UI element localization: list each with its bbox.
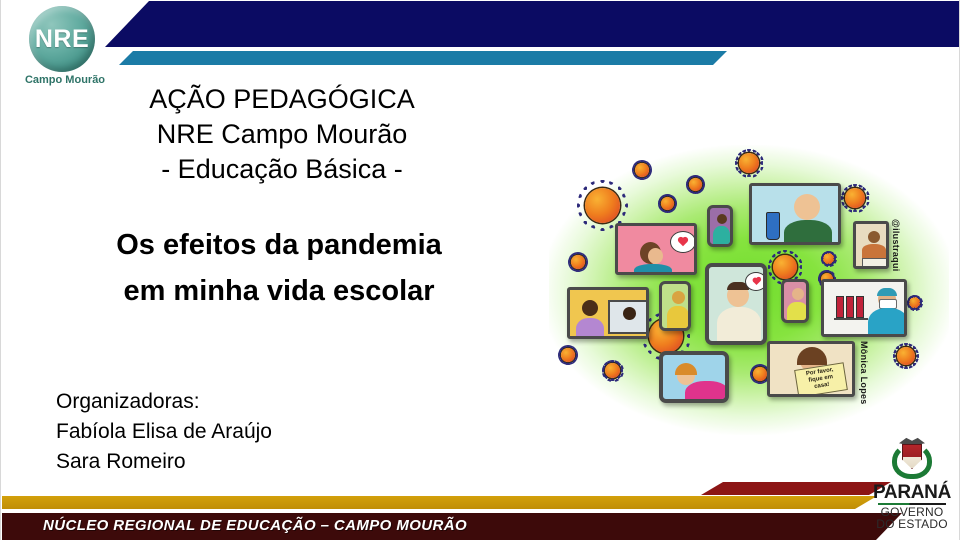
- hair-shape: [797, 347, 827, 365]
- title-line-1: AÇÃO PEDAGÓGICA: [37, 82, 527, 117]
- nre-logo: NRE Campo Mourão: [17, 6, 113, 90]
- virus-icon: [561, 348, 575, 362]
- subtitle-line-2: em minha vida escolar: [29, 268, 529, 314]
- heart-icon: [752, 278, 759, 285]
- parana-wordmark: PARANÁ: [867, 483, 957, 502]
- title-line-3: - Educação Básica -: [37, 152, 527, 187]
- virus-icon: [661, 197, 674, 210]
- test-tube: [846, 296, 854, 318]
- organizer-name-2: Sara Romeiro: [56, 447, 272, 477]
- subtitle-line-1: Os efeitos da pandemia: [29, 222, 529, 268]
- screen-stay-home: Por favor, fique em casa!: [767, 341, 855, 397]
- virus-icon: [823, 253, 834, 264]
- virus-icon: [571, 255, 585, 269]
- title-line-2: NRE Campo Mourão: [37, 117, 527, 152]
- book-icon: [862, 258, 888, 268]
- illustration-credit: Mônica Lopes: [859, 341, 869, 405]
- monitor-icon: [608, 300, 649, 334]
- screen-video-call: [567, 287, 649, 339]
- person-head: [623, 307, 636, 320]
- header-teal-stripe: [119, 51, 727, 65]
- header-navy-band: [105, 1, 960, 47]
- footer-dark-red-band: [701, 482, 891, 495]
- test-tube: [836, 296, 844, 318]
- screen-resting-girl: [659, 351, 729, 403]
- person-body: [576, 318, 604, 339]
- virus-icon: [585, 188, 620, 223]
- footer-gold-band: [2, 496, 877, 509]
- heart-icon: [679, 238, 687, 246]
- footer-label: NÚCLEO REGIONAL DE EDUCAÇÃO – CAMPO MOUR…: [43, 517, 467, 534]
- illustration-watermark: @ilustraqui: [891, 219, 901, 272]
- organizers-block: Organizadoras: Fabíola Elisa de Araújo S…: [56, 387, 272, 477]
- organizers-label: Organizadoras:: [56, 387, 272, 417]
- person-head: [717, 214, 727, 224]
- person-body: [787, 302, 808, 322]
- person-head: [582, 300, 598, 316]
- page-title: AÇÃO PEDAGÓGICA NRE Campo Mourão - Educa…: [37, 82, 527, 187]
- screen-center-man: [705, 263, 767, 345]
- cap-icon: [877, 288, 897, 296]
- presentation-slide: NRE Campo Mourão AÇÃO PEDAGÓGICA NRE Cam…: [0, 0, 960, 540]
- virus-icon: [897, 347, 915, 365]
- thought-bubble: [745, 272, 767, 291]
- screen-pink-woman: [615, 223, 697, 275]
- person-head: [672, 291, 685, 304]
- person-body: [713, 226, 730, 246]
- nre-badge-circle-icon: NRE: [29, 6, 95, 72]
- virus-icon: [845, 188, 865, 208]
- person-head: [794, 194, 820, 220]
- virus-icon: [753, 367, 767, 381]
- screen-phone-boy: [707, 205, 733, 247]
- nre-badge-text: NRE: [35, 25, 89, 54]
- person-face: [648, 248, 663, 264]
- virus-icon: [909, 297, 920, 308]
- flask-icon: [766, 212, 780, 240]
- test-tube: [856, 296, 864, 318]
- screen-tablet-kid: [659, 281, 691, 331]
- person-body: [667, 306, 689, 328]
- pandemia-collage-illustration: @ilustraqui: [549, 145, 949, 435]
- person-body: [862, 244, 886, 258]
- screen-scientist: [749, 183, 841, 245]
- screen-small-reader: [853, 221, 889, 269]
- screen-health-worker: [821, 279, 907, 337]
- parana-coat-of-arms-icon: [889, 437, 935, 481]
- virus-icon: [635, 163, 649, 177]
- parana-gov-line-2: DO ESTADO: [867, 518, 957, 530]
- virus-icon: [739, 153, 759, 173]
- virus-icon: [689, 178, 702, 191]
- person-body: [868, 308, 907, 337]
- hair-shape: [675, 363, 697, 375]
- page-subtitle: Os efeitos da pandemia em minha vida esc…: [29, 222, 529, 314]
- organizer-name-1: Fabíola Elisa de Araújo: [56, 417, 272, 447]
- person-head: [792, 288, 804, 300]
- person-body: [685, 381, 729, 403]
- thought-bubble: [670, 231, 696, 253]
- person-body: [634, 264, 672, 275]
- person-body: [784, 220, 832, 245]
- parana-government-logo: PARANÁ GOVERNO DO ESTADO: [867, 437, 957, 535]
- person-body: [717, 307, 761, 343]
- person-head: [868, 231, 880, 243]
- virus-icon: [605, 363, 620, 378]
- screen-phone-girl: [781, 279, 809, 323]
- virus-icon: [773, 255, 797, 279]
